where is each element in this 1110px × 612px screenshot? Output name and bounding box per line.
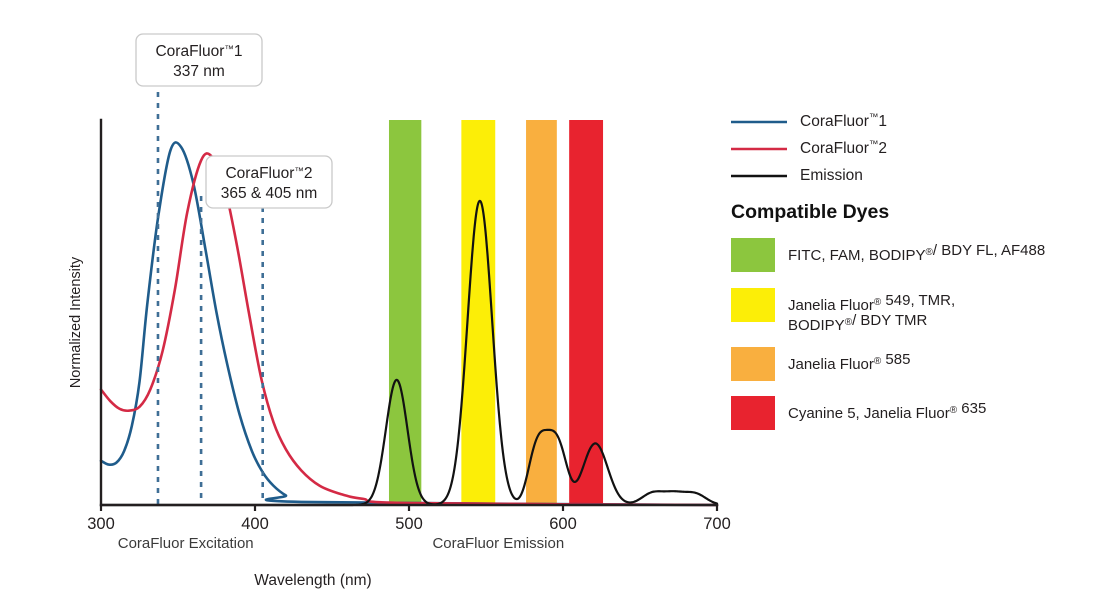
green-band	[389, 120, 421, 505]
dye-label-1-0: Janelia Fluor® 549, TMR,	[788, 292, 955, 314]
legend-label-0: CoraFluor™1	[800, 112, 887, 131]
yellow-band	[461, 120, 495, 505]
dye-label-2-0: Janelia Fluor® 585	[788, 351, 910, 373]
legend-entry-0: CoraFluor™1	[731, 112, 887, 131]
dye-swatch-3	[731, 396, 775, 430]
dye-row-2: Janelia Fluor® 585	[731, 347, 910, 381]
emission-range-label: CoraFluor Emission	[432, 535, 564, 552]
dye-row-3: Cyanine 5, Janelia Fluor® 635	[731, 396, 986, 430]
dye-swatch-2	[731, 347, 775, 381]
compatible-dyes-group: Compatible DyesFITC, FAM, BODIPY®/ BDY F…	[731, 201, 1045, 430]
x-tick-label-300: 300	[87, 515, 115, 533]
y-axis-title: Normalized Intensity	[68, 256, 84, 388]
callouts-group: CoraFluor™1337 nmCoraFluor™2365 & 405 nm	[136, 34, 332, 208]
legend-group: CoraFluor™1CoraFluor™2Emission	[731, 112, 887, 185]
cora1-callout-line2: 337 nm	[173, 63, 225, 80]
orange-band	[526, 120, 557, 505]
x-axis-title: Wavelength (nm)	[254, 572, 371, 589]
excitation-range-label: CoraFluor Excitation	[118, 535, 254, 552]
dye-label-3-0: Cyanine 5, Janelia Fluor® 635	[788, 400, 986, 422]
cora1-callout: CoraFluor™1337 nm	[136, 34, 262, 86]
x-tick-label-700: 700	[703, 515, 731, 533]
legend-label-2: Emission	[800, 167, 863, 184]
dye-label-1-1: BODIPY®/ BDY TMR	[788, 312, 928, 334]
dye-swatch-0	[731, 238, 775, 272]
compatible-dyes-heading: Compatible Dyes	[731, 201, 889, 223]
x-tick-label-600: 600	[549, 515, 577, 533]
red-band	[569, 120, 603, 505]
legend-entry-2: Emission	[731, 167, 863, 184]
cora2-callout: CoraFluor™2365 & 405 nm	[206, 156, 332, 208]
x-tick-label-500: 500	[395, 515, 423, 533]
dye-swatch-1	[731, 288, 775, 322]
emission-bands-group	[389, 120, 603, 505]
spectra-figure: 300400500600700CoraFluor ExcitationCoraF…	[0, 0, 1110, 612]
dye-label-0-0: FITC, FAM, BODIPY®/ BDY FL, AF488	[788, 242, 1045, 264]
dye-row-1: Janelia Fluor® 549, TMR,BODIPY®/ BDY TMR	[731, 288, 955, 334]
cora2-callout-line2: 365 & 405 nm	[221, 185, 318, 202]
legend-label-1: CoraFluor™2	[800, 139, 887, 158]
x-tick-label-400: 400	[241, 515, 269, 533]
legend-entry-1: CoraFluor™2	[731, 139, 887, 158]
dye-row-0: FITC, FAM, BODIPY®/ BDY FL, AF488	[731, 238, 1045, 272]
